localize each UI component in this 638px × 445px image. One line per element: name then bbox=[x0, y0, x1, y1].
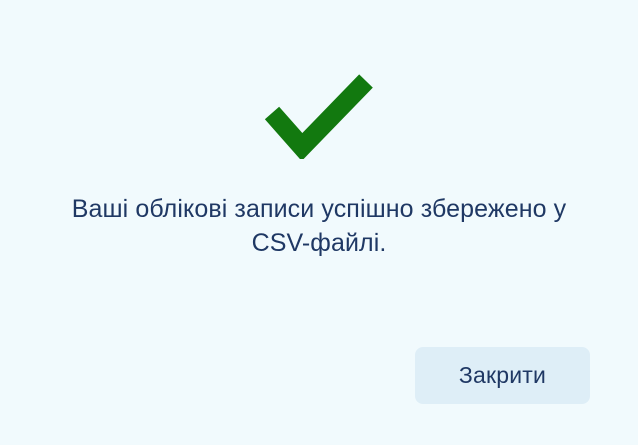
dialog-actions: Закрити bbox=[0, 347, 638, 404]
close-button[interactable]: Закрити bbox=[415, 347, 590, 404]
success-dialog: Ваші облікові записи успішно збережено у… bbox=[0, 0, 638, 445]
check-icon bbox=[264, 69, 374, 159]
success-message: Ваші облікові записи успішно збережено у… bbox=[39, 192, 599, 260]
status-icon-container bbox=[0, 62, 638, 166]
